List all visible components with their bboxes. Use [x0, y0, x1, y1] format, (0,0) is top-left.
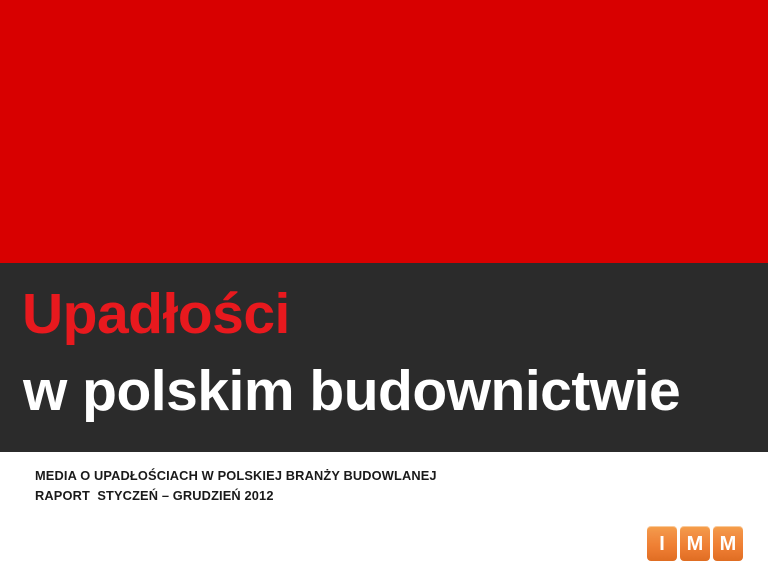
title-line-primary: Upadłości: [22, 286, 290, 343]
imm-logo: I M M: [647, 526, 743, 561]
imm-logo-tile-m-2: M: [713, 526, 743, 561]
top-red-banner: [0, 0, 768, 263]
title-banner: Upadłości w polskim budownictwie: [0, 263, 768, 452]
subtitle-block: MEDIA O UPADŁOŚCIACH W POLSKIEJ BRANŻY B…: [35, 466, 635, 506]
imm-logo-tile-m-1: M: [680, 526, 710, 561]
title-block: Upadłości w polskim budownictwie: [0, 263, 768, 452]
imm-logo-tile-i: I: [647, 526, 677, 561]
title-line-secondary: w polskim budownictwie: [23, 363, 680, 420]
subtitle-line-2: RAPORT STYCZEŃ – GRUDZIEŃ 2012: [35, 486, 635, 506]
presentation-slide: Upadłości w polskim budownictwie MEDIA O…: [0, 0, 768, 576]
subtitle-line-1: MEDIA O UPADŁOŚCIACH W POLSKIEJ BRANŻY B…: [35, 466, 635, 486]
